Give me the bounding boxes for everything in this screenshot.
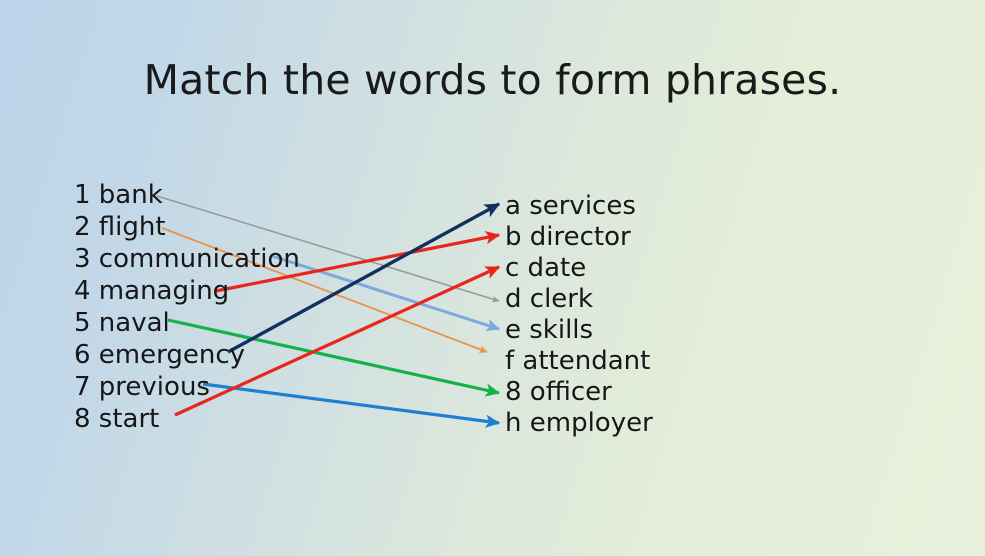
- page-title: Match the words to form phrases.: [0, 56, 985, 104]
- left-item-3[interactable]: 3 communication: [74, 246, 300, 278]
- left-item-1[interactable]: 1 bank: [74, 182, 300, 214]
- right-item-e[interactable]: e skills: [505, 317, 653, 348]
- left-item-2[interactable]: 2 flight: [74, 214, 300, 246]
- right-item-b[interactable]: b director: [505, 224, 653, 255]
- left-item-6[interactable]: 6 emergency: [74, 342, 300, 374]
- left-item-5[interactable]: 5 naval: [74, 310, 300, 342]
- right-item-f[interactable]: f attendant: [505, 348, 653, 379]
- match-connector: [272, 256, 499, 329]
- right-item-a[interactable]: a services: [505, 193, 653, 224]
- right-item-h[interactable]: h employer: [505, 410, 653, 441]
- left-item-8[interactable]: 8 start: [74, 406, 300, 438]
- right-item-c[interactable]: c date: [505, 255, 653, 286]
- left-item-4[interactable]: 4 managing: [74, 278, 300, 310]
- slide-canvas: Match the words to form phrases. 1 bank …: [0, 0, 985, 556]
- right-word-column: a services b director c date d clerk e s…: [505, 193, 653, 441]
- left-word-column: 1 bank 2 flight 3 communication 4 managi…: [74, 182, 300, 438]
- right-item-g[interactable]: 8 officer: [505, 379, 653, 410]
- right-item-d[interactable]: d clerk: [505, 286, 653, 317]
- left-item-7[interactable]: 7 previous: [74, 374, 300, 406]
